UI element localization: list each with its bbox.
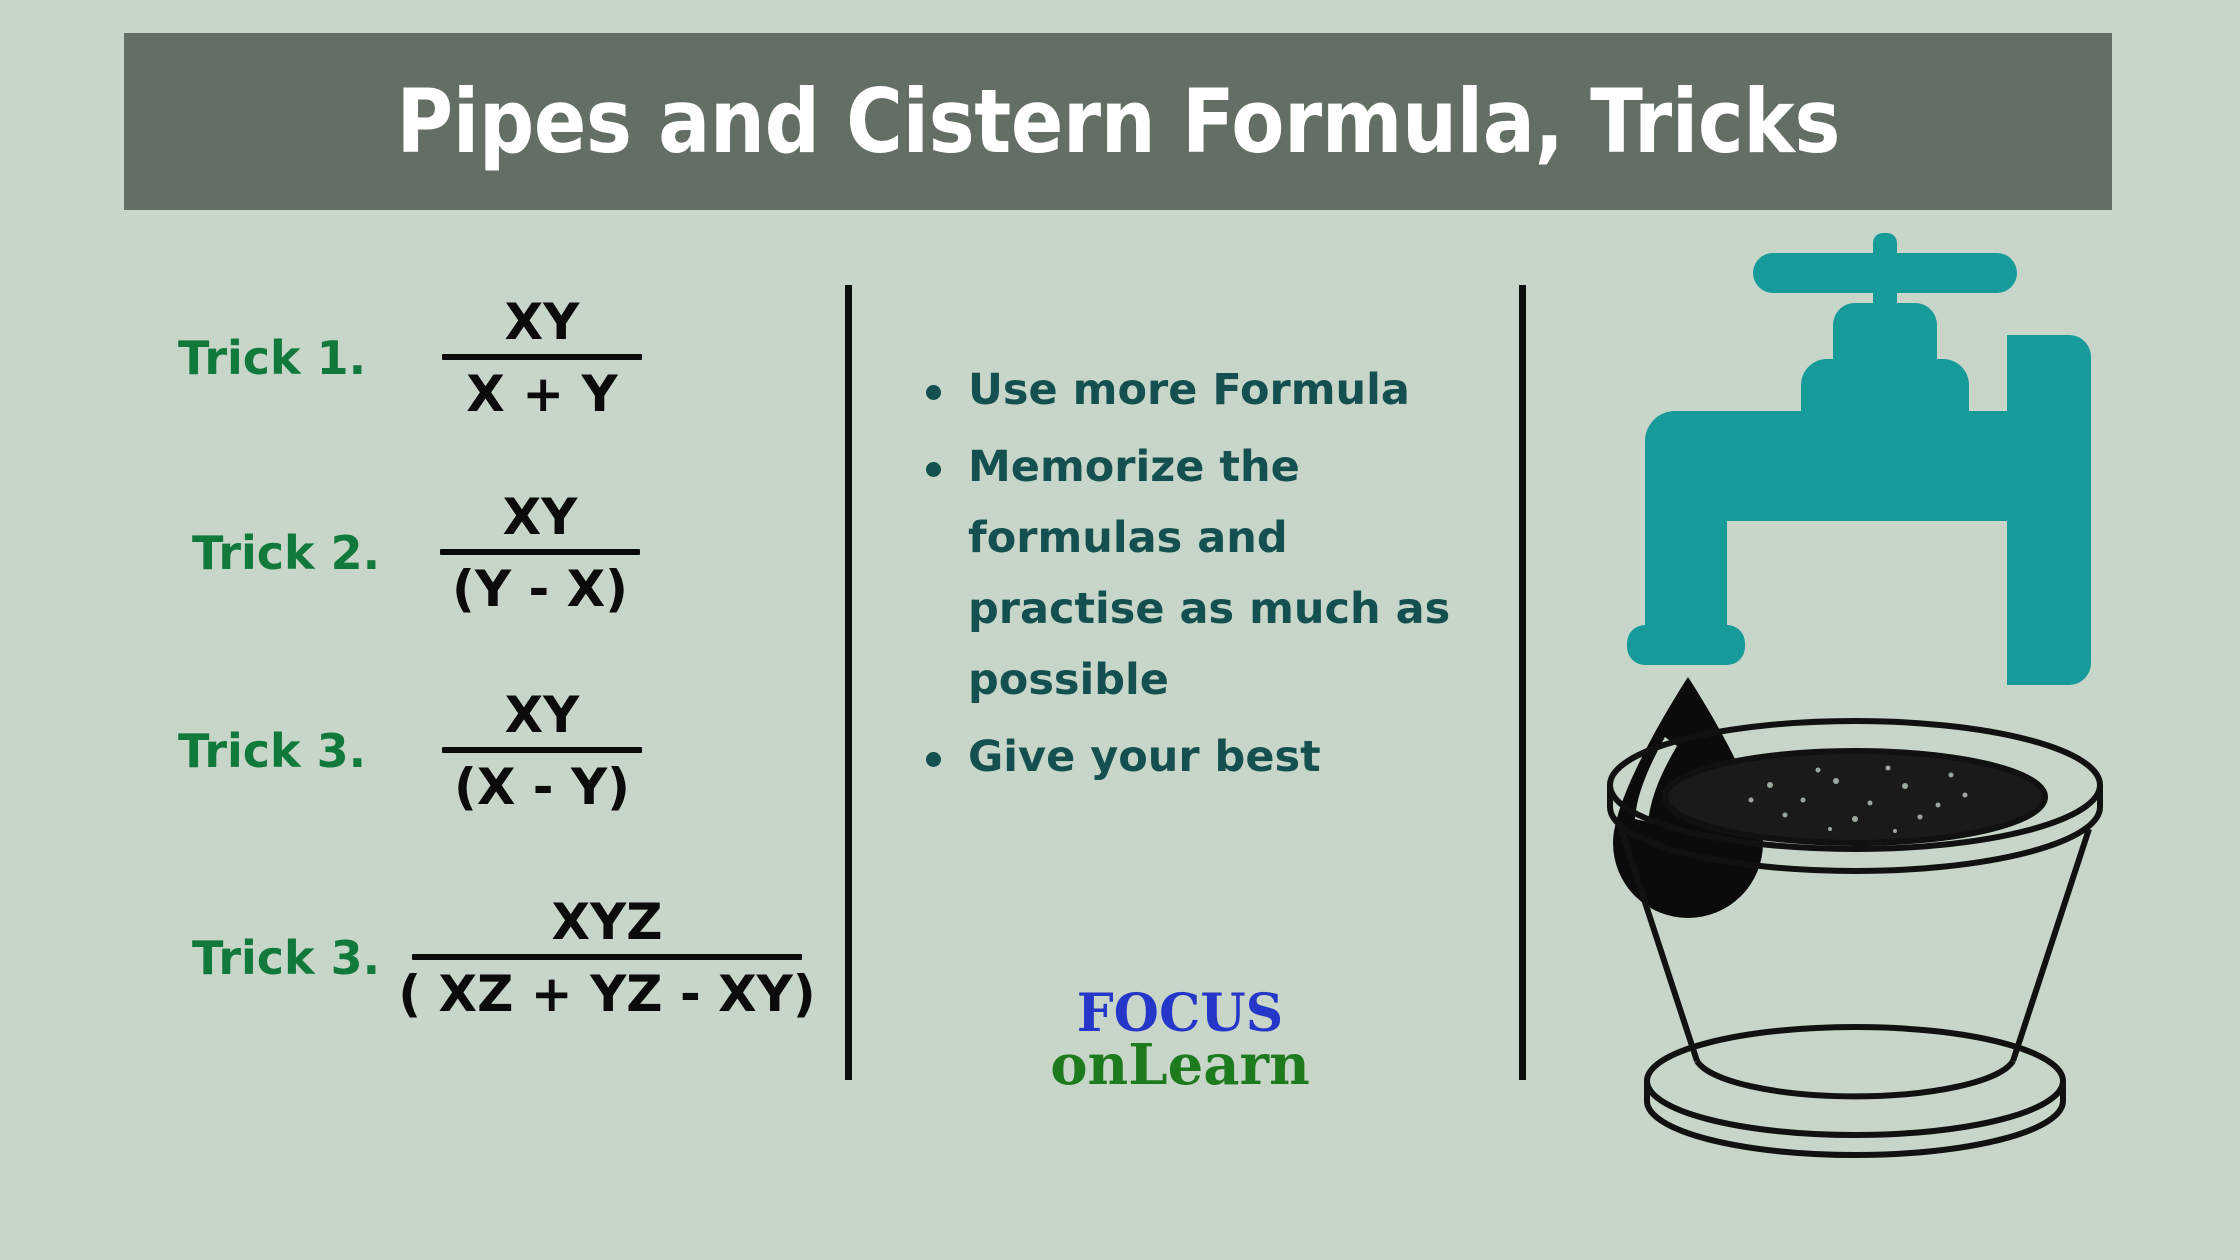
page-title: Pipes and Cistern Formula, Tricks: [396, 78, 1840, 166]
bullet-icon: [926, 752, 941, 767]
fraction-numerator: XYZ: [537, 896, 676, 955]
formula-fraction: XY (X - Y): [442, 689, 642, 814]
tip-text: Give your best: [968, 732, 1321, 782]
fraction-numerator: XY: [491, 689, 594, 748]
illustration-faucet-and-pot: [1555, 225, 2235, 1175]
fraction-numerator: XY: [489, 491, 592, 550]
trick-label: Trick 2.: [150, 526, 422, 580]
tips-column: Use more Formula Memorize the formulas a…: [920, 355, 1490, 799]
logo-secondary-text: onLearn: [1030, 1040, 1330, 1092]
formula-row: Trick 2. XY (Y - X): [150, 463, 830, 643]
fraction-denominator: (Y - X): [442, 555, 638, 616]
tip-text: Memorize the formulas and practise as mu…: [968, 442, 1450, 705]
column-divider-left: [845, 285, 852, 1080]
list-item: Use more Formula: [920, 355, 1490, 426]
fraction-denominator: X + Y: [456, 360, 627, 421]
formula-row: Trick 3. XYZ ( XZ + YZ - XY): [150, 858, 830, 1058]
fraction-denominator: ( XZ + YZ - XY): [388, 960, 825, 1021]
trick-label: Trick 3.: [150, 931, 422, 985]
list-item: Memorize the formulas and practise as mu…: [920, 432, 1490, 716]
formula-fraction: XY (Y - X): [440, 491, 640, 616]
tip-text: Use more Formula: [968, 365, 1410, 415]
trick-label: Trick 3.: [150, 724, 408, 778]
flower-pot-icon: [1610, 721, 2100, 1155]
column-divider-right: [1519, 285, 1526, 1080]
title-banner: Pipes and Cistern Formula, Tricks: [124, 33, 2112, 210]
bullet-icon: [926, 462, 941, 477]
tips-list: Use more Formula Memorize the formulas a…: [920, 355, 1490, 793]
trick-label: Trick 1.: [150, 331, 408, 385]
faucet-icon: [1627, 233, 2091, 685]
logo-primary-text: FOCUS: [1030, 990, 1330, 1038]
brand-logo: FOCUS onLearn: [1030, 990, 1330, 1091]
list-item: Give your best: [920, 722, 1490, 793]
fraction-numerator: XY: [491, 296, 594, 355]
infographic-canvas: Pipes and Cistern Formula, Tricks Trick …: [0, 0, 2240, 1260]
formula-fraction: XY X + Y: [442, 296, 642, 421]
formula-row: Trick 1. XY X + Y: [150, 268, 830, 448]
formula-fraction: XYZ ( XZ + YZ - XY): [412, 896, 802, 1021]
bullet-icon: [926, 385, 941, 400]
formula-row: Trick 3. XY (X - Y): [150, 661, 830, 841]
fraction-denominator: (X - Y): [444, 753, 640, 814]
formula-column: Trick 1. XY X + Y Trick 2. XY (Y - X) Tr…: [150, 258, 830, 1088]
